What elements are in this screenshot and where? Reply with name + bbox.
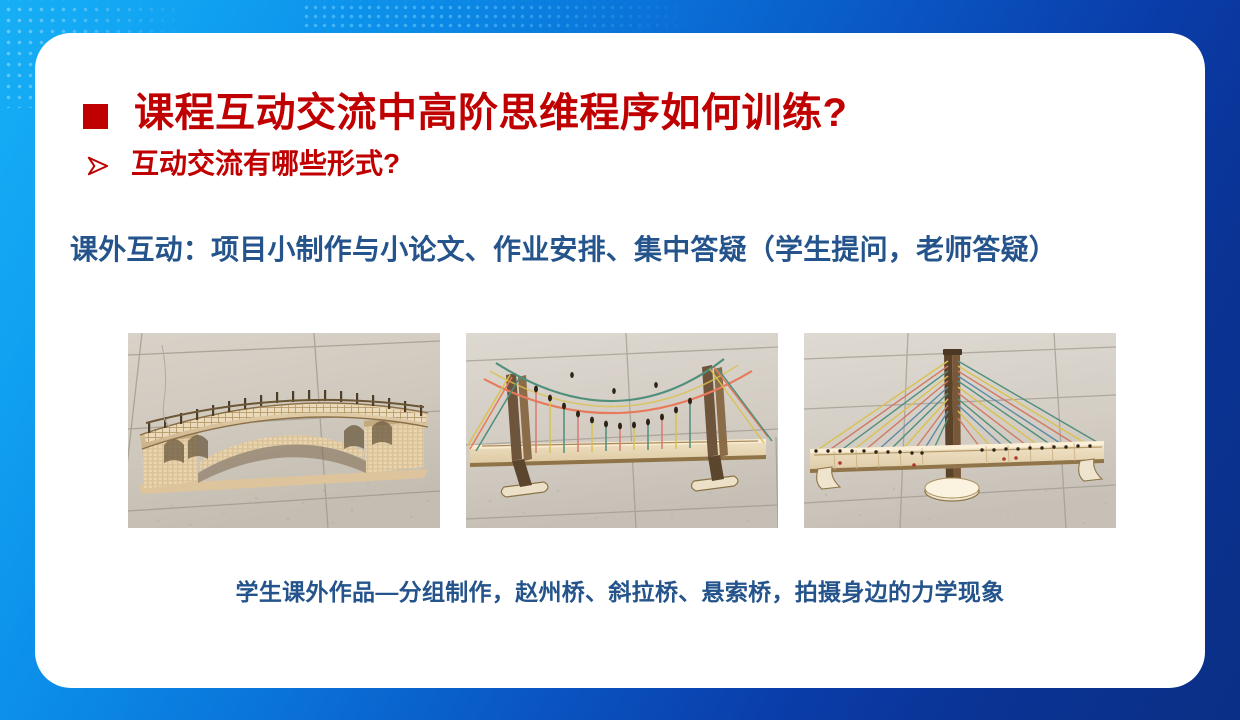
title-row: 课程互动交流中高阶思维程序如何训练? bbox=[83, 91, 1143, 135]
slide-content-card: 课程互动交流中高阶思维程序如何训练? 互动交流有哪些形式? 课外互动：项目小制作… bbox=[35, 33, 1205, 688]
presentation-slide: 课程互动交流中高阶思维程序如何训练? 互动交流有哪些形式? 课外互动：项目小制作… bbox=[0, 0, 1240, 720]
arrow-bullet-icon bbox=[87, 155, 109, 177]
subtitle-row: 互动交流有哪些形式? bbox=[87, 149, 1087, 180]
photo-strip bbox=[128, 333, 1106, 528]
arch-bridge-photo bbox=[128, 333, 440, 528]
suspension-bridge-photo bbox=[466, 333, 778, 528]
page-title: 课程互动交流中高阶思维程序如何训练? bbox=[134, 91, 847, 135]
photo-caption: 学生课外作品—分组制作，赵州桥、斜拉桥、悬索桥，拍摄身边的力学现象 bbox=[35, 573, 1205, 607]
page-subtitle: 互动交流有哪些形式? bbox=[131, 149, 400, 180]
square-bullet-icon bbox=[83, 104, 108, 129]
body-paragraph: 课外互动：项目小制作与小论文、作业安排、集中答疑（学生提问，老师答疑） bbox=[70, 231, 1180, 270]
cable-stayed-bridge-photo bbox=[804, 333, 1116, 528]
